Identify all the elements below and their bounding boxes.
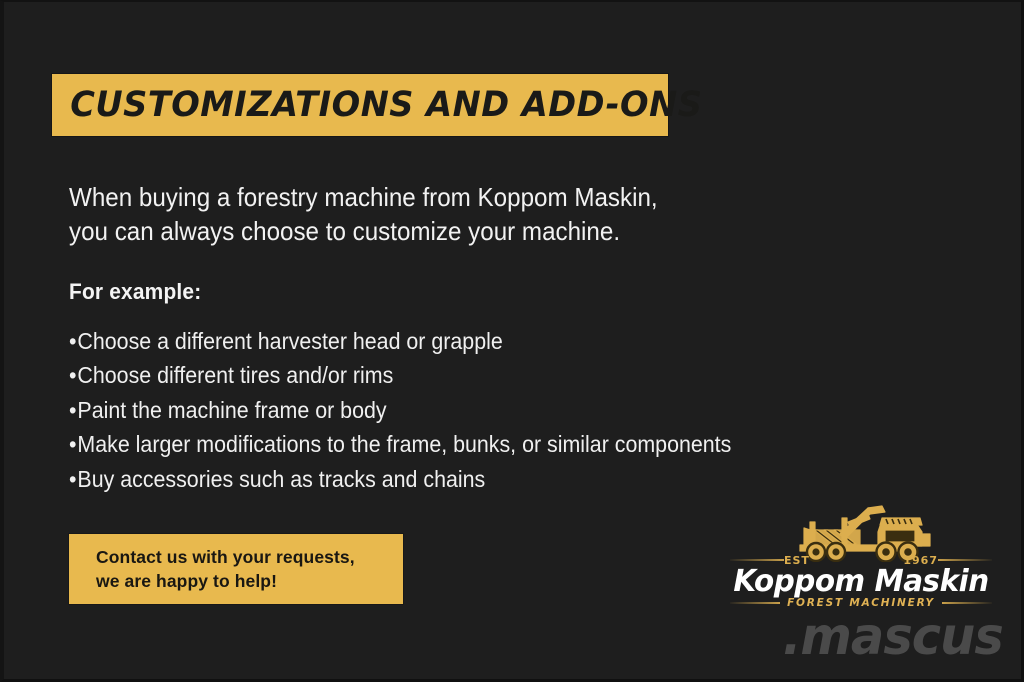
bullet-marker-icon: •	[69, 328, 76, 354]
mascus-watermark: .mascus	[783, 607, 1003, 667]
list-item-label: Buy accessories such as tracks and chain…	[77, 466, 485, 492]
year-label: 1967	[903, 554, 938, 567]
contact-line-2: we are happy to help!	[69, 569, 403, 593]
list-item: •Choose different tires and/or rims	[69, 358, 731, 392]
contact-line-1: Contact us with your requests,	[69, 545, 403, 569]
list-item: •Buy accessories such as tracks and chai…	[69, 462, 731, 496]
bullet-marker-icon: •	[69, 397, 76, 423]
contact-callout-box[interactable]: Contact us with your requests, we are ha…	[69, 534, 403, 604]
page-title: CUSTOMIZATIONS AND ADD-ONS	[52, 85, 702, 125]
logo-wordmark: Koppom Maskin	[733, 564, 990, 599]
koppom-maskin-logo: EST 1967 Koppom Maskin FOREST MACHINERY	[730, 500, 992, 612]
title-banner: CUSTOMIZATIONS AND ADD-ONS	[52, 74, 668, 136]
est-rule-right	[938, 559, 992, 561]
bullet-marker-icon: •	[69, 431, 76, 457]
tagline-rule-left	[730, 602, 780, 604]
list-item-label: Choose different tires and/or rims	[77, 362, 393, 388]
est-rule-left	[730, 559, 784, 561]
tagline-rule-right	[942, 602, 992, 604]
intro-paragraph: When buying a forestry machine from Kopp…	[69, 180, 769, 248]
list-item-label: Paint the machine frame or body	[77, 397, 386, 423]
advertisement-slide: CUSTOMIZATIONS AND ADD-ONS When buying a…	[0, 0, 1024, 682]
customization-list: •Choose a different harvester head or gr…	[69, 324, 781, 496]
list-item-label: Make larger modifications to the frame, …	[77, 431, 731, 457]
for-example-label: For example:	[69, 279, 201, 305]
list-item: •Choose a different harvester head or gr…	[69, 324, 731, 358]
intro-line-1: When buying a forestry machine from Kopp…	[69, 180, 720, 214]
bullet-marker-icon: •	[69, 362, 76, 388]
bullet-marker-icon: •	[69, 466, 76, 492]
list-item-label: Choose a different harvester head or gra…	[77, 328, 502, 354]
est-label: EST	[784, 554, 810, 567]
intro-line-2: you can always choose to customize your …	[69, 214, 720, 248]
list-item: •Make larger modifications to the frame,…	[69, 427, 731, 461]
list-item: •Paint the machine frame or body	[69, 393, 731, 427]
